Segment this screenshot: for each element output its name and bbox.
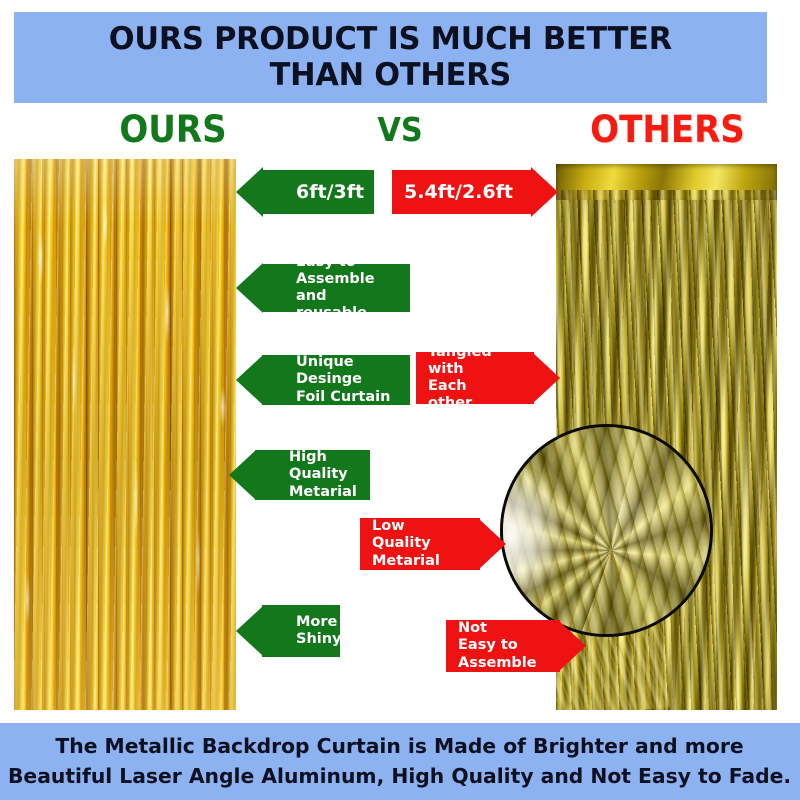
magnifier-highlight [500, 464, 565, 609]
page-title-line-2: THAN OTHERS [109, 58, 672, 94]
callout-ours-shiny[interactable]: More Shiny [262, 605, 340, 657]
column-heading-ours: OURS [76, 108, 269, 151]
callout-others-low-quality[interactable]: Low Quality Metarial [360, 518, 480, 570]
callout-ours-shiny-label: More Shiny [296, 614, 330, 648]
magnifier-circle [500, 424, 713, 637]
callout-others-assemble-label: Not Easy to Assemble [458, 620, 526, 671]
callout-others-assemble[interactable]: Not Easy to Assemble [446, 620, 560, 672]
callout-ours-assemble-label: Easy to Assemble and reusable [296, 254, 400, 322]
product-image-ours [14, 159, 236, 710]
callout-others-tangled[interactable]: Tangled with Each other [416, 352, 534, 404]
callout-ours-assemble[interactable]: Easy to Assemble and reusable [262, 264, 410, 312]
callout-others-low-quality-label: Low Quality Metarial [372, 518, 446, 569]
bottom-caption-line-1: The Metallic Backdrop Curtain is Made of… [8, 732, 791, 762]
column-heading-others: OTHERS [569, 108, 767, 151]
top-banner: OURS PRODUCT IS MUCH BETTER THAN OTHERS [14, 12, 767, 103]
callout-ours-size-label: 6ft/3ft [296, 181, 364, 203]
infographic-canvas: OURS PRODUCT IS MUCH BETTER THAN OTHERS … [0, 0, 800, 800]
bottom-banner: The Metallic Backdrop Curtain is Made of… [0, 723, 800, 800]
bottom-caption: The Metallic Backdrop Curtain is Made of… [8, 732, 791, 791]
curtain-highlight-specks-ours [14, 159, 236, 710]
callout-ours-design[interactable]: Unique Desinge Foil Curtain [262, 355, 410, 405]
callout-ours-design-label: Unique Desinge Foil Curtain [296, 354, 400, 405]
callout-ours-quality-label: High Quality Metarial [289, 449, 360, 500]
page-title-line-1: OURS PRODUCT IS MUCH BETTER [109, 22, 672, 58]
callout-ours-quality[interactable]: High Quality Metarial [255, 450, 370, 500]
column-heading-vs: VS [336, 110, 465, 149]
callout-others-size[interactable]: 5.4ft/2.6ft [392, 170, 532, 214]
callout-others-tangled-label: Tangled with Each other [428, 344, 500, 412]
page-title: OURS PRODUCT IS MUCH BETTER THAN OTHERS [109, 22, 672, 94]
callout-ours-size[interactable]: 6ft/3ft [262, 170, 374, 214]
callout-others-size-label: 5.4ft/2.6ft [404, 181, 498, 203]
bottom-caption-line-2: Beautiful Laser Angle Aluminum, High Qua… [8, 762, 791, 792]
